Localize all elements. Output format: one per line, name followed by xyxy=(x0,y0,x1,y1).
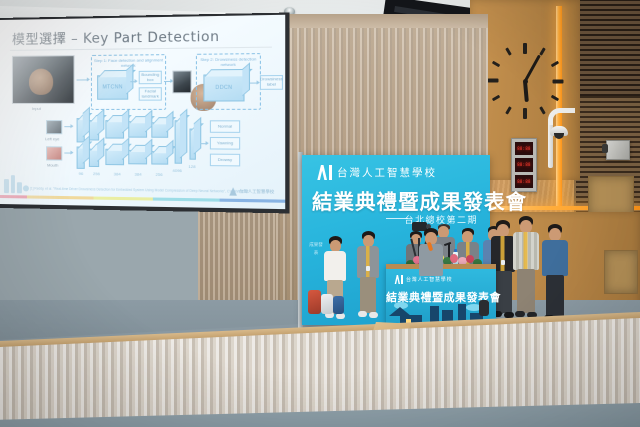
legs xyxy=(517,269,535,313)
lanyard xyxy=(357,246,379,278)
wood-slat-panel-upper xyxy=(574,0,640,96)
torso xyxy=(542,240,568,276)
legs xyxy=(360,277,376,313)
shoe xyxy=(515,311,525,317)
led-row: 88:88 xyxy=(515,158,533,171)
banner-event-title: 結業典禮暨成果發表會 xyxy=(312,185,480,215)
lanyard xyxy=(513,232,539,270)
torso xyxy=(324,251,346,281)
torso xyxy=(513,232,539,270)
slide-footer-logo: 台灣人工智慧學校 xyxy=(229,187,274,196)
slide-class-normal: Normal xyxy=(210,120,240,133)
conference-stage-photo: 88:88 88:88 88:88 模型選擇 – Key Part Detect… xyxy=(0,0,640,427)
projection-screen: 模型選擇 – Key Part Detection Input Step 1: … xyxy=(0,15,285,209)
slide-arrow xyxy=(250,83,259,84)
wall-clock xyxy=(487,43,563,119)
ai-logo-mark-icon xyxy=(394,275,403,284)
slide-fc-layer xyxy=(175,120,182,164)
slide-ddcn-label: DDCN xyxy=(204,75,243,100)
clock-center-pin xyxy=(523,79,528,84)
name-badge xyxy=(366,266,370,271)
person-student-check-shirt xyxy=(512,216,540,320)
wall-door-recess xyxy=(604,250,638,294)
person-speaker-at-podium xyxy=(418,228,444,278)
slide-facial-landmark-output: Facial landmark xyxy=(139,87,162,100)
slide-ddcn-block: DDCN xyxy=(203,74,244,101)
camera-mount-arm xyxy=(548,118,553,168)
slide-logo-mark xyxy=(229,187,237,195)
slide-arrow xyxy=(164,81,172,82)
slide-logo-text: 台灣人工智慧學校 xyxy=(239,188,274,195)
person-student-grey-shirt xyxy=(355,231,381,323)
slide-step2-label: Step 2: Drowsiness detection network xyxy=(197,56,260,67)
shoe xyxy=(358,311,367,317)
name-badge xyxy=(501,260,505,265)
wall-recess-panel xyxy=(588,176,634,216)
slide-filter-count: 256 xyxy=(156,172,163,177)
bag-red xyxy=(308,290,321,314)
legs xyxy=(546,275,564,317)
slide-conv-layer xyxy=(151,151,168,165)
bag-blue xyxy=(333,296,344,314)
slide-conv-layer xyxy=(151,122,168,138)
slide-drowsiness-label-output: Drowsiness label xyxy=(260,75,283,90)
slide-fc-label: 4096 xyxy=(172,168,181,173)
slide-face-crop-image xyxy=(172,70,191,93)
wall-speaker xyxy=(606,140,630,160)
ai-logo-mark-icon xyxy=(316,165,332,180)
slide-fc-label-2: 128 xyxy=(188,164,195,169)
dome-camera-icon xyxy=(550,126,568,136)
bag-white xyxy=(321,294,333,314)
slide-arrow xyxy=(200,143,208,144)
equipment-case xyxy=(479,300,489,316)
projection-screen-frame: 模型選擇 – Key Part Detection Input Step 1: … xyxy=(0,13,290,214)
slide-fc-layer-2 xyxy=(189,129,195,160)
person-student-blue-tshirt xyxy=(541,224,569,324)
slide-class-yawning: Yawning xyxy=(210,137,240,150)
led-row: 88:88 xyxy=(515,142,533,155)
shoe xyxy=(369,312,378,318)
curtain-valance xyxy=(276,14,488,28)
torso xyxy=(357,246,379,278)
slide-bounding-box-output: Bounding box xyxy=(139,71,162,85)
banner-org-name: 台灣人工智慧學校 xyxy=(337,165,437,180)
banner-header: 台灣人工智慧學校 xyxy=(316,165,437,180)
slide-class-drowsy: Drowsy xyxy=(210,154,240,167)
led-row: 88:88 xyxy=(515,175,533,188)
wall-led-display-panel: 88:88 88:88 88:88 xyxy=(511,138,537,192)
